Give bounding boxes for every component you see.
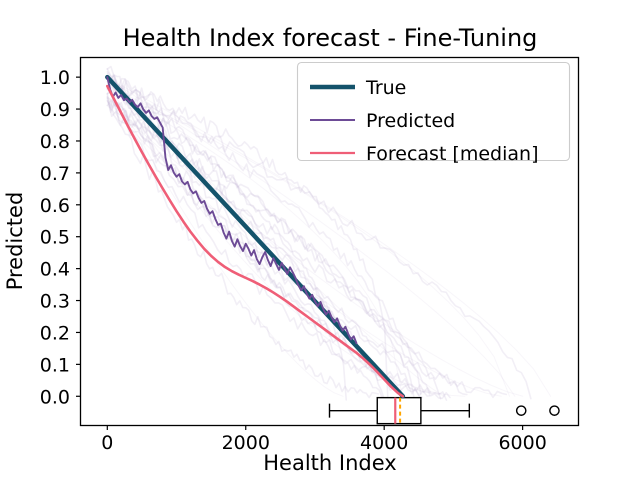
y-tick-label: 0.1 (40, 354, 70, 376)
y-tick-label: 0.4 (40, 259, 70, 281)
y-tick-label: 0.3 (40, 291, 70, 313)
y-tick-label: 0.0 (40, 386, 70, 408)
chart-legend[interactable]: TruePredictedForecast [median] (298, 63, 570, 166)
y-tick-label: 0.5 (40, 227, 70, 249)
y-tick-label: 0.8 (40, 131, 70, 153)
chart-canvas: Health Index forecast - Fine-Tuning 0200… (0, 0, 640, 480)
y-tick-label: 0.6 (40, 195, 70, 217)
legend-label: True (365, 77, 406, 99)
y-tick-label: 0.7 (40, 163, 70, 185)
y-axis-label: Predicted (3, 192, 27, 291)
legend-label: Predicted (366, 110, 455, 132)
y-tick-label: 0.2 (40, 322, 70, 344)
x-tick-label: 0 (101, 432, 113, 454)
boxplot-box (377, 398, 421, 424)
y-tick-label: 0.9 (40, 99, 70, 121)
x-tick-label: 6000 (498, 432, 546, 454)
chart-title: Health Index forecast - Fine-Tuning (123, 24, 538, 52)
x-axis-label: Health Index (263, 451, 396, 475)
legend-label: Forecast [median] (366, 143, 538, 165)
y-tick-label: 1.0 (40, 67, 70, 89)
chart-figure: Health Index forecast - Fine-Tuning 0200… (0, 0, 640, 480)
